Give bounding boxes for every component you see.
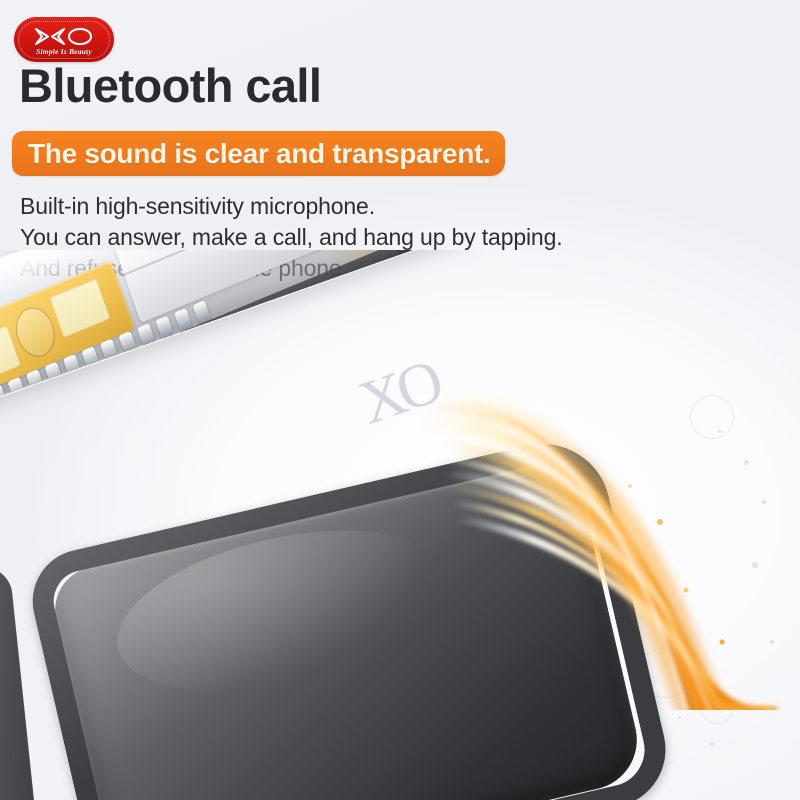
circuit-pad (50, 279, 110, 338)
contact-pin (0, 385, 8, 409)
contact-pin (44, 362, 63, 386)
contact-pin (26, 369, 45, 393)
contact-pin (137, 323, 156, 347)
contact-pin (7, 377, 26, 401)
subhead-banner: The sound is clear and transparent. (12, 131, 505, 176)
poster-canvas: Simple Is Beauty Bluetooth call The soun… (0, 0, 800, 800)
contact-pin (81, 346, 100, 370)
product-photo: XO (0, 250, 800, 800)
xo-logo-icon (33, 26, 95, 47)
brand-logo: Simple Is Beauty (14, 17, 114, 62)
transparent-arm-housing (0, 250, 614, 414)
contact-pin (63, 354, 82, 378)
contact-pin (155, 316, 174, 340)
description-line-1: Built-in high-sensitivity microphone. (20, 191, 562, 222)
page-title: Bluetooth call (19, 62, 321, 109)
description-line-2: You can answer, make a call, and hang up… (20, 222, 562, 253)
contact-pin (100, 339, 119, 363)
brand-tagline: Simple Is Beauty (36, 48, 92, 56)
contact-pin (118, 331, 137, 355)
subhead-text: The sound is clear and transparent. (28, 140, 491, 168)
